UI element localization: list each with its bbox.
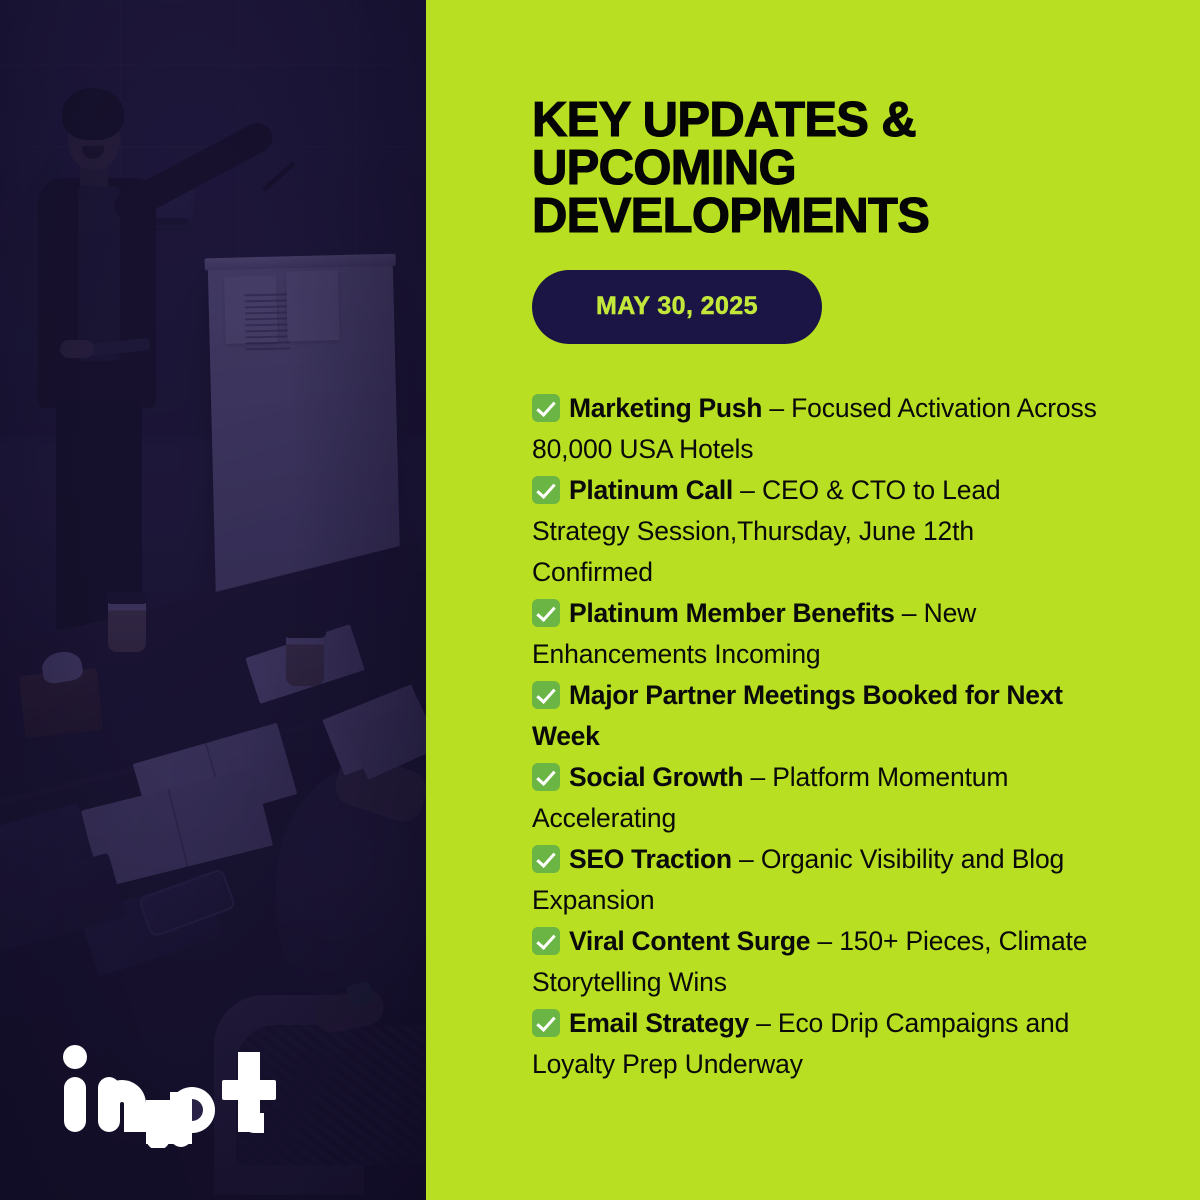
list-item: SEO Traction – Organic Visibility and Bl…	[532, 839, 1098, 921]
list-item: Marketing Push – Focused Activation Acro…	[532, 388, 1098, 470]
check-icon	[532, 394, 560, 422]
list-item: Viral Content Surge – 150+ Pieces, Clima…	[532, 921, 1098, 1003]
check-icon	[532, 927, 560, 955]
social-post-card: KEY UPDATES & UPCOMING DEVELOPMENTS MAY …	[0, 0, 1200, 1200]
update-title: SEO Traction	[569, 844, 732, 874]
list-item: Social Growth – Platform Momentum Accele…	[532, 757, 1098, 839]
update-title: Viral Content Surge	[569, 926, 810, 956]
list-item: Platinum Call – CEO & CTO to Lead Strate…	[532, 470, 1098, 593]
list-item: Platinum Member Benefits – New Enhanceme…	[532, 593, 1098, 675]
update-title: Platinum Call	[569, 475, 733, 505]
update-title: Marketing Push	[569, 393, 762, 423]
check-icon	[532, 845, 560, 873]
page-title: KEY UPDATES & UPCOMING DEVELOPMENTS	[532, 96, 1024, 240]
check-icon	[532, 763, 560, 791]
check-icon	[532, 599, 560, 627]
check-icon	[532, 476, 560, 504]
list-item: Email Strategy – Eco Drip Campaigns and …	[532, 1003, 1098, 1085]
content-panel: KEY UPDATES & UPCOMING DEVELOPMENTS MAY …	[426, 0, 1200, 1200]
check-icon	[532, 681, 560, 709]
photo-vignette	[0, 0, 426, 1200]
update-title: Platinum Member Benefits	[569, 598, 895, 628]
impt-logo	[62, 1044, 292, 1148]
list-item: Major Partner Meetings Booked for Next W…	[532, 675, 1098, 757]
updates-list: Marketing Push – Focused Activation Acro…	[532, 388, 1098, 1085]
update-title: Social Growth	[569, 762, 743, 792]
check-icon	[532, 1009, 560, 1037]
date-badge: MAY 30, 2025	[532, 270, 822, 344]
update-title: Major Partner Meetings Booked for Next W…	[532, 680, 1063, 751]
update-title: Email Strategy	[569, 1008, 749, 1038]
photo-panel	[0, 0, 426, 1200]
